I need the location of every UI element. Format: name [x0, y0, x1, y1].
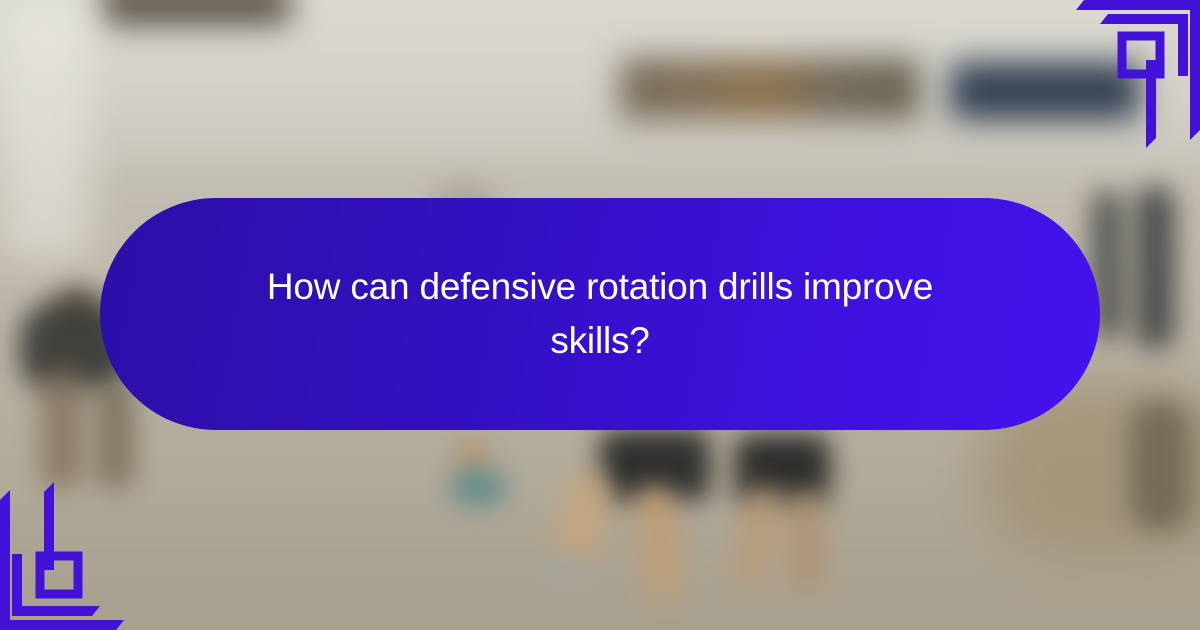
headline-text: How can defensive rotation drills improv…	[220, 260, 980, 368]
poster-canvas: How can defensive rotation drills improv…	[0, 0, 1200, 630]
headline-card: How can defensive rotation drills improv…	[100, 198, 1100, 430]
